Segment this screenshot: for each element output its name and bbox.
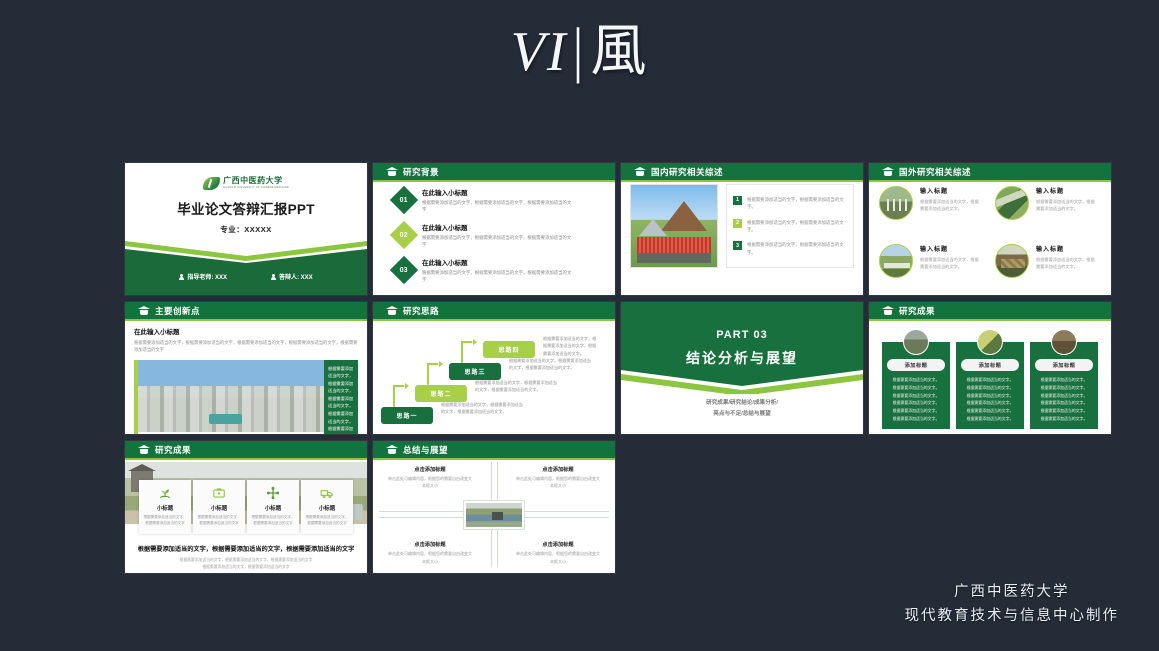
background-item-subtitle: 在此输入小标题 xyxy=(422,257,572,267)
summary-quadrant: 点击添加标题 单击此处可编辑内容，根据您的需要自由改变文本框大小 xyxy=(387,541,473,565)
results-line: 根据需要添加适当的文字。 xyxy=(887,376,945,384)
circular-photo xyxy=(903,329,929,355)
approach-step-label: 思路一 xyxy=(381,407,433,424)
overseas-item-title: 输入标题 xyxy=(1036,244,1098,253)
footer-line-department: 现代教育技术与信息中心制作 xyxy=(905,605,1120,629)
results-line: 根据需要添加适当的文字。 xyxy=(1035,376,1093,384)
cover-people-row: 指导老师: XXX 答辩人: XXX xyxy=(125,272,367,281)
results-card: 小标题 根据需要添加适当的文字，根据需要添加适当的文字 xyxy=(139,480,191,534)
overseas-item-body: 根据需要添加适当的文字，根据需要添加适当的文字。 xyxy=(1036,198,1098,212)
innovation-media-row: 根据需要添加适当的文字，根据需要添加适当的文字，根据需要添加适当的文字，根据需要… xyxy=(134,360,358,434)
overseas-item: 输入标题 根据需要添加适当的文字，根据需要添加适当的文字。 xyxy=(879,186,985,238)
overseas-item: 输入标题 根据需要添加适当的文字，根据需要添加适当的文字。 xyxy=(879,244,985,296)
results-card-title: 小标题 xyxy=(142,504,188,512)
step-arrow-icon xyxy=(461,341,474,363)
results-line: 根据需要添加适当的文字。 xyxy=(887,399,945,407)
results-card-body: 根据需要添加适当的文字，根据需要添加适当的文字 xyxy=(250,514,296,527)
brand-divider-glyph: | xyxy=(568,19,589,84)
divider-subtitle: 研究成果/研究结论/成果分析/ 亮点与不足/总结与展望 xyxy=(621,398,863,419)
summary-quadrant-body: 单击此处可编辑内容，根据您的需要自由改变文本框大小 xyxy=(387,475,473,490)
divider-slide-body: PART 03 结论分析与展望 研究成果/研究结论/成果分析/ 亮点与不足/总结… xyxy=(621,302,863,434)
approach-step-body: 根据需要添加适当的文字，根据需要添加适当的文字，根据需要添加适当的文字。 xyxy=(543,335,599,357)
background-item-subtitle: 在此输入小标题 xyxy=(422,222,572,232)
results-line: 根据需要添加适当的文字。 xyxy=(961,384,1019,392)
slide-thumbnail-domestic-review[interactable]: 国内研究相关综述 1 根据需要添加适当的文字，根据需要添加适当的文字。 2 根据… xyxy=(621,163,863,295)
cover-major: 专业：XXXXX xyxy=(125,224,367,235)
results-card: 小标题 根据需要添加适当的文字，根据需要添加适当的文字 xyxy=(193,480,245,534)
results-line: 根据需要添加适当的文字。 xyxy=(1035,392,1093,400)
slide-header-bar: 国外研究相关综述 xyxy=(869,163,1111,180)
overseas-item: 输入标题 根据需要添加适当的文字，根据需要添加适当的文字。 xyxy=(995,244,1101,296)
graduation-cap-icon xyxy=(138,445,150,454)
person-icon xyxy=(271,274,276,280)
results-line: 根据需要添加适当的文字。 xyxy=(1035,407,1093,415)
slide-header-title: 研究成果 xyxy=(899,305,935,317)
approach-step: 思路三 xyxy=(449,363,501,380)
slide-thumbnail-results-panels[interactable]: 研究成果 添加标题 根据需要添加适当的文字。 根据需要添加适当的文字。 根据需要… xyxy=(869,302,1111,434)
results-panel: 添加标题 根据需要添加适当的文字。 根据需要添加适当的文字。 根据需要添加适当的… xyxy=(1030,342,1098,429)
cover-presenter: 答辩人: XXX xyxy=(271,272,313,281)
slide-header-bar: 研究成果 xyxy=(869,302,1111,319)
slide-thumbnail-research-approach[interactable]: 研究思路 思路一 根据需要添加适当的文字，根据需要添加适当的文字，根据需要添加适… xyxy=(373,302,615,434)
step-number-badge: 01 xyxy=(390,186,418,214)
slide-header-title: 研究成果 xyxy=(155,444,191,456)
cover-slide-body: 广西中医药大学 GUANGXI UNIVERSITY OF CHINESE ME… xyxy=(125,163,367,295)
leaf-icon xyxy=(203,177,220,190)
slide-body: 小标题 根据需要添加适当的文字，根据需要添加适当的文字 小标题 根据需要添加适当… xyxy=(125,458,367,571)
background-item: 01 在此输入小标题 根据需要添加适当的文字，根据需要添加适当的文字，根据需要添… xyxy=(382,187,606,214)
innovation-subtitle: 在此输入小标题 xyxy=(134,326,358,336)
university-logo: 广西中医药大学 GUANGXI UNIVERSITY OF CHINESE ME… xyxy=(125,163,367,190)
slide-body: 点击添加标题 单击此处可编辑内容，根据您的需要自由改变文本框大小 点击添加标题 … xyxy=(373,458,615,571)
slide-thumbnail-innovation[interactable]: 主要创新点 在此输入小标题 根据需要添加适当的文字，根据需要添加适当的文字，根据… xyxy=(125,302,367,434)
university-logo-text: 广西中医药大学 GUANGXI UNIVERSITY OF CHINESE ME… xyxy=(223,177,289,189)
step-number: 03 xyxy=(400,266,408,273)
summary-quadrant: 点击添加标题 单击此处可编辑内容，根据您的需要自由改变文本框大小 xyxy=(515,466,601,490)
results-panel-pill: 添加标题 xyxy=(961,359,1019,371)
overseas-item-text: 输入标题 根据需要添加适当的文字，根据需要添加适当的文字。 xyxy=(920,244,982,270)
cover-advisor-label: 指导老师: XXX xyxy=(187,272,227,281)
slide-header-bar: 总结与展望 xyxy=(373,441,615,458)
innovation-lead-text: 根据需要添加适当的文字，根据需要添加适当的文字，根据需要添加适当的文字，根据需要… xyxy=(134,339,358,354)
graduation-cap-icon xyxy=(386,167,398,176)
approach-step-body: 根据需要添加适当的文字，根据需要添加适当的文字，根据需要添加适当的文字。 xyxy=(509,357,593,372)
footer-line-university: 广西中医药大学 xyxy=(905,581,1120,605)
approach-step-body: 根据需要添加适当的文字，根据需要添加适当的文字，根据需要添加适当的文字。 xyxy=(475,379,559,394)
overseas-item-body: 根据需要添加适当的文字，根据需要添加适当的文字。 xyxy=(1036,256,1098,270)
summary-quadrant-body: 单击此处可编辑内容，根据您的需要自由改变文本框大小 xyxy=(387,550,473,565)
results-card-body: 根据需要添加适当的文字，根据需要添加适当的文字 xyxy=(304,514,350,527)
results-line: 根据需要添加适当的文字。 xyxy=(887,384,945,392)
plant-hand-icon xyxy=(142,486,188,500)
approach-step-label: 思路三 xyxy=(449,363,501,380)
graduation-cap-icon xyxy=(386,306,398,315)
approach-step: 思路一 xyxy=(381,407,433,424)
overseas-item-text: 输入标题 根据需要添加适当的文字，根据需要添加适当的文字。 xyxy=(920,186,982,212)
cover-presenter-label: 答辩人: XXX xyxy=(279,272,313,281)
cover-title: 毕业论文答辩汇报PPT xyxy=(125,198,367,218)
slide-header-title: 国内研究相关综述 xyxy=(651,166,723,178)
pavilion-photo xyxy=(630,184,718,268)
results-caption-sub-line2: 根据需要添加适当的文字，根据需要添加适当的文字 xyxy=(134,564,358,571)
results-line: 根据需要添加适当的文字。 xyxy=(961,399,1019,407)
overseas-item-body: 根据需要添加适当的文字，根据需要添加适当的文字。 xyxy=(920,256,982,270)
summary-quadrant: 点击添加标题 单击此处可编辑内容，根据您的需要自由改变文本框大小 xyxy=(515,541,601,565)
results-line: 根据需要添加适当的文字。 xyxy=(961,376,1019,384)
graduation-cap-icon xyxy=(634,167,646,176)
brand-vi-text: VI xyxy=(511,21,568,83)
item-body: 根据需要添加适当的文字，根据需要添加适当的文字。 xyxy=(747,219,847,234)
background-item-text: 在此输入小标题 根据需要添加适当的文字，根据需要添加适当的文字，根据需要添加适当… xyxy=(422,222,572,249)
university-name-cn: 广西中医药大学 xyxy=(223,177,289,185)
overseas-item-text: 输入标题 根据需要添加适当的文字，根据需要添加适当的文字。 xyxy=(1036,186,1098,212)
people-network-icon xyxy=(250,486,296,500)
results-line: 根据需要添加适当的文字。 xyxy=(1035,399,1093,407)
summary-quadrant-title: 点击添加标题 xyxy=(515,466,601,473)
results-caption-main: 根据需要添加适当的文字，根据需要添加适当的文字，根据需要添加适当的文字 xyxy=(134,544,358,553)
circular-photo xyxy=(995,244,1029,278)
divider-green-shape xyxy=(621,302,863,386)
graduation-cap-icon xyxy=(386,445,398,454)
step-number: 01 xyxy=(400,196,408,203)
overseas-item-title: 输入标题 xyxy=(1036,186,1098,195)
approach-step: 思路二 xyxy=(415,385,467,402)
results-card: 小标题 根据需要添加适当的文字，根据需要添加适当的文字 xyxy=(247,480,299,534)
background-item: 03 在此输入小标题 根据需要添加适当的文字，根据需要添加适当的文字，根据需要添… xyxy=(382,257,606,284)
slide-body: 添加标题 根据需要添加适当的文字。 根据需要添加适当的文字。 根据需要添加适当的… xyxy=(869,319,1111,434)
brand-cjk-text: 風 xyxy=(590,19,648,84)
slide-thumbnail-cover[interactable]: 广西中医药大学 GUANGXI UNIVERSITY OF CHINESE ME… xyxy=(125,163,367,295)
approach-step: 思路四 xyxy=(483,341,535,358)
innovation-side-text: 根据需要添加适当的文字，根据需要添加适当的文字，根据需要添加适当的文字，根据需要… xyxy=(324,360,358,434)
item-body: 根据需要添加适当的文字，根据需要添加适当的文字。 xyxy=(747,196,847,211)
person-icon xyxy=(179,274,184,280)
summary-quadrant-body: 单击此处可编辑内容，根据您的需要自由改变文本框大小 xyxy=(515,550,601,565)
results-panel-pill: 添加标题 xyxy=(887,359,945,371)
slide-header-bar: 国内研究相关综述 xyxy=(621,163,863,180)
results-panel: 添加标题 根据需要添加适当的文字。 根据需要添加适当的文字。 根据需要添加适当的… xyxy=(956,342,1024,429)
center-photo xyxy=(463,500,525,530)
slide-header-bar: 研究背景 xyxy=(373,163,615,180)
overseas-item-text: 输入标题 根据需要添加适当的文字，根据需要添加适当的文字。 xyxy=(1036,244,1098,270)
slide-thumbnail-results-cards[interactable]: 研究成果 小标题 根据需要添加适当的文字，根据需要添加适当的文字 xyxy=(125,441,367,573)
approach-step-label: 思路四 xyxy=(483,341,535,358)
slide-body: 01 在此输入小标题 根据需要添加适当的文字，根据需要添加适当的文字，根据需要添… xyxy=(373,180,615,295)
summary-quadrant-title: 点击添加标题 xyxy=(515,541,601,548)
graduation-cap-icon xyxy=(882,306,894,315)
summary-quadrant-title: 点击添加标题 xyxy=(387,541,473,548)
university-name-en: GUANGXI UNIVERSITY OF CHINESE MEDICINE xyxy=(223,187,289,190)
results-caption-sub-line1: 根据需要添加适当的文字，根据需要添加适当的文字，根据需要添加适当的文字 xyxy=(134,557,358,564)
footer-credit: 广西中医药大学 现代教育技术与信息中心制作 xyxy=(905,581,1120,629)
domestic-review-list: 1 根据需要添加适当的文字，根据需要添加适当的文字。 2 根据需要添加适当的文字… xyxy=(726,184,854,268)
slide-thumbnail-summary-outlook[interactable]: 总结与展望 点击添加标题 单击此处可编辑内容，根据您的需要自由改变文本框大小 点… xyxy=(373,441,615,573)
list-item: 2 根据需要添加适当的文字，根据需要添加适当的文字。 xyxy=(733,219,847,234)
background-item-body: 根据需要添加适当的文字，根据需要添加适当的文字，根据需要添加适当的文字 xyxy=(422,234,572,249)
circular-photo xyxy=(879,244,913,278)
circular-photo xyxy=(995,186,1029,220)
slide-body: 1 根据需要添加适当的文字，根据需要添加适当的文字。 2 根据需要添加适当的文字… xyxy=(621,180,863,295)
slide-body: 输入标题 根据需要添加适当的文字，根据需要添加适当的文字。 输入标题 根据需要添… xyxy=(869,180,1111,295)
results-caption-sub: 根据需要添加适当的文字，根据需要添加适当的文字，根据需要添加适当的文字 根据需要… xyxy=(134,557,358,571)
circular-photo xyxy=(977,329,1003,355)
background-item-subtitle: 在此输入小标题 xyxy=(422,187,572,197)
campus-photo xyxy=(138,360,324,432)
briefcase-icon xyxy=(196,486,242,500)
slide-header-title: 研究背景 xyxy=(403,166,439,178)
approach-step-label: 思路二 xyxy=(415,385,467,402)
step-arrow-icon xyxy=(427,363,440,385)
results-card: 小标题 根据需要添加适当的文字，根据需要添加适当的文字 xyxy=(301,480,353,534)
step-number-badge: 02 xyxy=(390,221,418,249)
slide-thumbnail-overseas-review[interactable]: 国外研究相关综述 输入标题 根据需要添加适当的文字，根据需要添加适当的文字。 输… xyxy=(869,163,1111,295)
summary-quadrant-title: 点击添加标题 xyxy=(387,466,473,473)
results-card-body: 根据需要添加适当的文字，根据需要添加适当的文字 xyxy=(196,514,242,527)
divider-subtitle-line1: 研究成果/研究结论/成果分析/ xyxy=(621,398,863,409)
item-number: 3 xyxy=(733,241,742,250)
slide-header-title: 主要创新点 xyxy=(155,305,200,317)
overseas-item: 输入标题 根据需要添加适当的文字，根据需要添加适当的文字。 xyxy=(995,186,1101,238)
results-column: 添加标题 根据需要添加适当的文字。 根据需要添加适当的文字。 根据需要添加适当的… xyxy=(956,329,1024,434)
results-line: 根据需要添加适当的文字。 xyxy=(1035,384,1093,392)
slide-body: 在此输入小标题 根据需要添加适当的文字，根据需要添加适当的文字，根据需要添加适当… xyxy=(125,319,367,434)
divider-title: 结论分析与展望 xyxy=(621,348,863,368)
slide-header-bar: 主要创新点 xyxy=(125,302,367,319)
overseas-item-body: 根据需要添加适当的文字，根据需要添加适当的文字。 xyxy=(920,198,982,212)
results-card-title: 小标题 xyxy=(304,504,350,512)
cover-top-area: 广西中医药大学 GUANGXI UNIVERSITY OF CHINESE ME… xyxy=(125,163,367,239)
background-item-text: 在此输入小标题 根据需要添加适当的文字，根据需要添加适当的文字，根据需要添加适当… xyxy=(422,257,572,284)
results-line: 根据需要添加适当的文字。 xyxy=(887,415,945,423)
overseas-item-title: 输入标题 xyxy=(920,244,982,253)
presentation-overview-page: VI|風 广西中医药大学 GUANGXI UNIVERSITY OF CHINE… xyxy=(0,0,1159,651)
graduation-cap-icon xyxy=(138,306,150,315)
approach-step-body: 根据需要添加适当的文字，根据需要添加适当的文字，根据需要添加适当的文字。 xyxy=(441,401,525,416)
background-item-body: 根据需要添加适当的文字，根据需要添加适当的文字，根据需要添加适当的文字 xyxy=(422,269,572,284)
circular-photo xyxy=(1051,329,1077,355)
results-line: 根据需要添加适当的文字。 xyxy=(887,392,945,400)
step-number: 02 xyxy=(400,231,408,238)
summary-quadrant-body: 单击此处可编辑内容，根据您的需要自由改变文本框大小 xyxy=(515,475,601,490)
item-number: 1 xyxy=(733,196,742,205)
divider-subtitle-line2: 亮点与不足/总结与展望 xyxy=(621,409,863,420)
item-number: 2 xyxy=(733,219,742,228)
background-item-text: 在此输入小标题 根据需要添加适当的文字，根据需要添加适当的文字，根据需要添加适当… xyxy=(422,187,572,214)
summary-quadrant: 点击添加标题 单击此处可编辑内容，根据您的需要自由改变文本框大小 xyxy=(387,466,473,490)
background-item: 02 在此输入小标题 根据需要添加适当的文字，根据需要添加适当的文字，根据需要添… xyxy=(382,222,606,249)
results-card-body: 根据需要添加适当的文字，根据需要添加适当的文字 xyxy=(142,514,188,527)
results-panel-pill: 添加标题 xyxy=(1035,359,1093,371)
results-line: 根据需要添加适当的文字。 xyxy=(887,407,945,415)
divider-part-label: PART 03 xyxy=(621,329,863,341)
results-card-row: 小标题 根据需要添加适当的文字，根据需要添加适当的文字 小标题 根据需要添加适当… xyxy=(134,462,358,534)
step-arrow-icon xyxy=(393,385,406,407)
slide-header-bar: 研究成果 xyxy=(125,441,367,458)
truck-icon xyxy=(304,486,350,500)
slide-header-title: 研究思路 xyxy=(403,305,439,317)
results-card-title: 小标题 xyxy=(196,504,242,512)
slide-body: 思路一 根据需要添加适当的文字，根据需要添加适当的文字，根据需要添加适当的文字。… xyxy=(373,319,615,432)
slide-thumbnail-research-background[interactable]: 研究背景 01 在此输入小标题 根据需要添加适当的文字，根据需要添加适当的文字，… xyxy=(373,163,615,295)
results-line: 根据需要添加适当的文字。 xyxy=(1035,415,1093,423)
list-item: 3 根据需要添加适当的文字，根据需要添加适当的文字。 xyxy=(733,241,847,256)
cover-advisor: 指导老师: XXX xyxy=(179,272,227,281)
results-card-title: 小标题 xyxy=(250,504,296,512)
results-panel: 添加标题 根据需要添加适当的文字。 根据需要添加适当的文字。 根据需要添加适当的… xyxy=(882,342,950,429)
results-line: 根据需要添加适当的文字。 xyxy=(961,415,1019,423)
slide-header-title: 国外研究相关综述 xyxy=(899,166,971,178)
item-body: 根据需要添加适当的文字，根据需要添加适当的文字。 xyxy=(747,241,847,256)
background-item-body: 根据需要添加适当的文字，根据需要添加适当的文字，根据需要添加适当的文字 xyxy=(422,199,572,214)
step-number-badge: 03 xyxy=(390,256,418,284)
slide-thumbnail-part-divider[interactable]: PART 03 结论分析与展望 研究成果/研究结论/成果分析/ 亮点与不足/总结… xyxy=(621,302,863,434)
overseas-item-title: 输入标题 xyxy=(920,186,982,195)
results-column: 添加标题 根据需要添加适当的文字。 根据需要添加适当的文字。 根据需要添加适当的… xyxy=(1030,329,1098,434)
graduation-cap-icon xyxy=(882,167,894,176)
slide-header-bar: 研究思路 xyxy=(373,302,615,319)
circular-photo xyxy=(879,186,913,220)
results-line: 根据需要添加适当的文字。 xyxy=(961,407,1019,415)
slide-thumbnail-grid: 广西中医药大学 GUANGXI UNIVERSITY OF CHINESE ME… xyxy=(125,163,1110,573)
results-line: 根据需要添加适当的文字。 xyxy=(961,392,1019,400)
brand-logo: VI|風 xyxy=(0,24,1159,80)
list-item: 1 根据需要添加适当的文字，根据需要添加适当的文字。 xyxy=(733,196,847,211)
results-column: 添加标题 根据需要添加适当的文字。 根据需要添加适当的文字。 根据需要添加适当的… xyxy=(882,329,950,434)
slide-header-title: 总结与展望 xyxy=(403,444,448,456)
